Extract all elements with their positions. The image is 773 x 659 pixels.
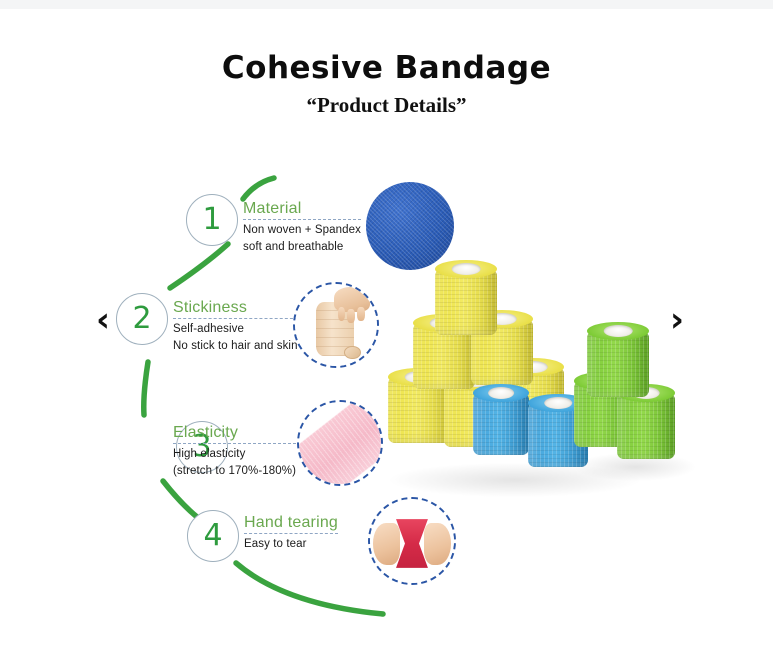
- page-title: Cohesive Bandage: [0, 50, 773, 86]
- feature-divider-1: [243, 219, 361, 220]
- feature-title-4: Hand tearing: [244, 514, 338, 532]
- thumb-4-photo: [370, 499, 454, 583]
- roll-green-top: [587, 331, 649, 397]
- cohesive-bandage-rolls-stack: [380, 255, 680, 505]
- pink-stretched-bandage-band: [297, 400, 383, 486]
- left-hand: [373, 523, 400, 565]
- finger-3: [357, 307, 364, 321]
- roll-yellow-top: [435, 269, 497, 335]
- feature-line-1-1: Non woven + Spandex: [243, 222, 361, 239]
- feature-divider-4: [244, 533, 338, 534]
- finger-2: [347, 309, 354, 323]
- page-subtitle: “Product Details”: [0, 93, 773, 118]
- tan-roll-end: [344, 346, 360, 359]
- feature-text-block-3: Elasticity High elasticity (stretch to 1…: [173, 424, 296, 480]
- feature-line-2-1: Self-adhesive: [173, 321, 298, 338]
- thumb-2-photo: [295, 284, 377, 366]
- pink-band: [299, 402, 381, 484]
- product-detail-infographic: Cohesive Bandage “Product Details” ‹ › 1…: [0, 0, 773, 659]
- feature-number-4: 4: [187, 510, 239, 562]
- roll-blue-left: [473, 393, 529, 455]
- carousel-prev-icon[interactable]: ‹: [96, 303, 110, 337]
- feature-title-1: Material: [243, 200, 361, 218]
- roll-green-lower-right: [617, 393, 675, 459]
- right-hand: [424, 523, 451, 565]
- feature-line-3-2: (stretch to 170%-180%): [173, 463, 296, 480]
- top-edge-band: [0, 0, 773, 9]
- feature-text-block-2: Stickiness Self-adhesive No stick to hai…: [173, 299, 298, 355]
- feature-title-3: Elasticity: [173, 424, 296, 442]
- feature-text-block-4: Hand tearing Easy to tear: [244, 514, 338, 553]
- feature-text-block-1: Material Non woven + Spandex soft and br…: [243, 200, 361, 256]
- finger-1: [338, 307, 345, 321]
- feature-number-1: 1: [186, 194, 238, 246]
- feature-line-4-1: Easy to tear: [244, 536, 338, 553]
- feature-line-1-2: soft and breathable: [243, 239, 361, 256]
- feature-line-3-1: High elasticity: [173, 446, 296, 463]
- feature-number-2: 2: [116, 293, 168, 345]
- feature-divider-3: [173, 443, 296, 444]
- feature-title-2: Stickiness: [173, 299, 298, 317]
- feature-line-2-2: No stick to hair and skin: [173, 338, 298, 355]
- hand-holding-tan-bandage-roll: [293, 282, 379, 368]
- hands-tearing-red-bandage: [368, 497, 456, 585]
- feature-divider-2: [173, 318, 298, 319]
- thumb-3-photo: [299, 402, 381, 484]
